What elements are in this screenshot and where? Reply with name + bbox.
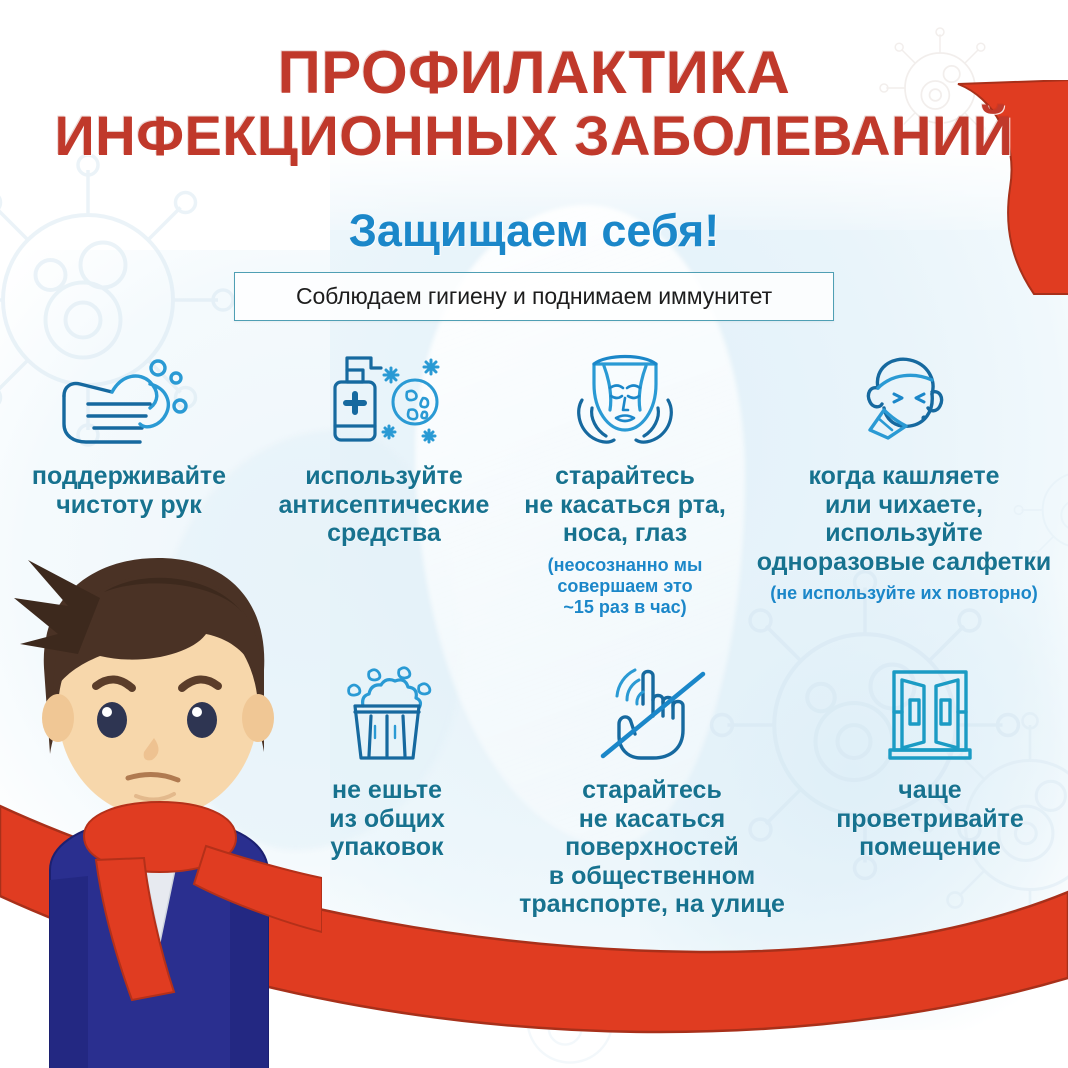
infographic-poster: ПРОФИЛАКТИКА ИНФЕКЦИОННЫХ ЗАБОЛЕВАНИЙ За… bbox=[0, 0, 1068, 1068]
tip-label: поддерживайте чистоту рук bbox=[32, 462, 226, 519]
no-touch-surface-icon bbox=[587, 664, 717, 764]
tip-cough-into-tissue: когда кашляете или чихаете, используйте … bbox=[740, 350, 1068, 618]
subtitle-heading: Защищаем себя! bbox=[0, 205, 1068, 257]
title-line-1: ПРОФИЛАКТИКА bbox=[0, 42, 1068, 103]
tip-dont-touch-face: старайтесь не касаться рта, носа, глаз (… bbox=[510, 350, 740, 618]
tip-label: когда кашляете или чихаете, используйте … bbox=[757, 462, 1052, 576]
subtitle-box-text: Соблюдаем гигиену и поднимаем иммунитет bbox=[296, 283, 772, 310]
popcorn-bucket-icon bbox=[333, 664, 441, 764]
face-hands-icon bbox=[570, 350, 680, 450]
tip-note: (неосознанно мы совершаем это ~15 раз в … bbox=[548, 555, 703, 619]
title-line-2: ИНФЕКЦИОННЫХ ЗАБОЛЕВАНИЙ bbox=[0, 107, 1068, 164]
tip-label: старайтесь не касаться рта, носа, глаз bbox=[524, 462, 726, 548]
boy-character-illustration bbox=[0, 540, 322, 1068]
sanitizer-bottle-icon bbox=[319, 350, 449, 450]
washing-hands-icon bbox=[54, 350, 204, 450]
subtitle-box: Соблюдаем гигиену и поднимаем иммунитет bbox=[234, 272, 834, 321]
sneezing-tissue-icon bbox=[848, 350, 960, 450]
open-window-icon bbox=[880, 664, 980, 764]
page-title: ПРОФИЛАКТИКА ИНФЕКЦИОННЫХ ЗАБОЛЕВАНИЙ bbox=[0, 42, 1068, 164]
tip-note: (не используйте их повторно) bbox=[770, 583, 1037, 604]
tip-label: используйте антисептические средства bbox=[279, 462, 490, 548]
